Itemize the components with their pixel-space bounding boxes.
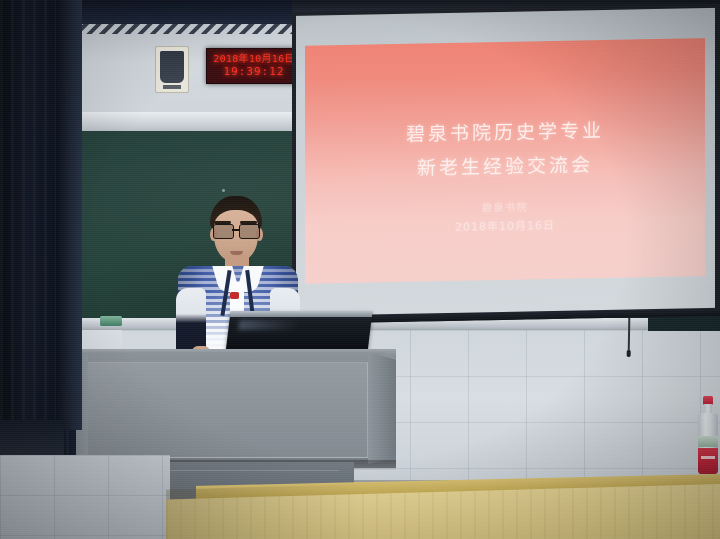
- floor-tiles-left: [0, 455, 170, 539]
- table-shading: [166, 484, 366, 539]
- curtain-fold: [56, 0, 82, 430]
- podium-right-side: [368, 352, 396, 464]
- wall-fixture-body: [160, 51, 184, 83]
- wall-fixture-slot: [163, 85, 181, 89]
- speaker-mouth: [230, 251, 243, 255]
- led-clock-display: 2018年10月16日 19:39:12: [206, 48, 302, 84]
- podium-front-panel: [84, 362, 368, 458]
- bottle-label-upper: [698, 436, 718, 447]
- water-bottle: [697, 396, 719, 480]
- chalkboard-eraser: [100, 316, 122, 326]
- monitor-top-bezel: [230, 311, 373, 317]
- projection-screen: 碧泉书院历史学专业 新老生经验交流会 碧泉书院 2018年10月16日: [292, 4, 720, 324]
- glasses-lens-left: [213, 224, 234, 239]
- podium-monitor: [225, 311, 372, 353]
- led-clock-time: 19:39:12: [224, 66, 285, 78]
- projection-screen-surface: 碧泉书院历史学专业 新老生经验交流会 碧泉书院 2018年10月16日: [296, 8, 715, 318]
- bottle-label-lower: [698, 448, 718, 474]
- presentation-slide: 碧泉书院历史学专业 新老生经验交流会 碧泉书院 2018年10月16日: [305, 38, 705, 284]
- chalk-mark: [222, 189, 225, 192]
- glasses-lens-right: [239, 224, 260, 239]
- glasses-icon: [212, 224, 260, 237]
- glasses-bridge: [232, 229, 240, 231]
- slide-title-line-2: 新老生经验交流会: [305, 146, 705, 188]
- slide-title-group: 碧泉书院历史学专业 新老生经验交流会: [305, 112, 705, 188]
- pull-cord-knob: [627, 350, 631, 357]
- lecture-hall-photo: 2018年10月16日 19:39:12 碧泉书院历史学专业 新老生经验交流会 …: [0, 0, 720, 539]
- slide-subtitle-group: 碧泉书院 2018年10月16日: [305, 196, 705, 240]
- lanyard-badge: [230, 292, 239, 299]
- monitor-screen-glare: [238, 320, 299, 330]
- wall-speaker-fixture: [155, 46, 189, 93]
